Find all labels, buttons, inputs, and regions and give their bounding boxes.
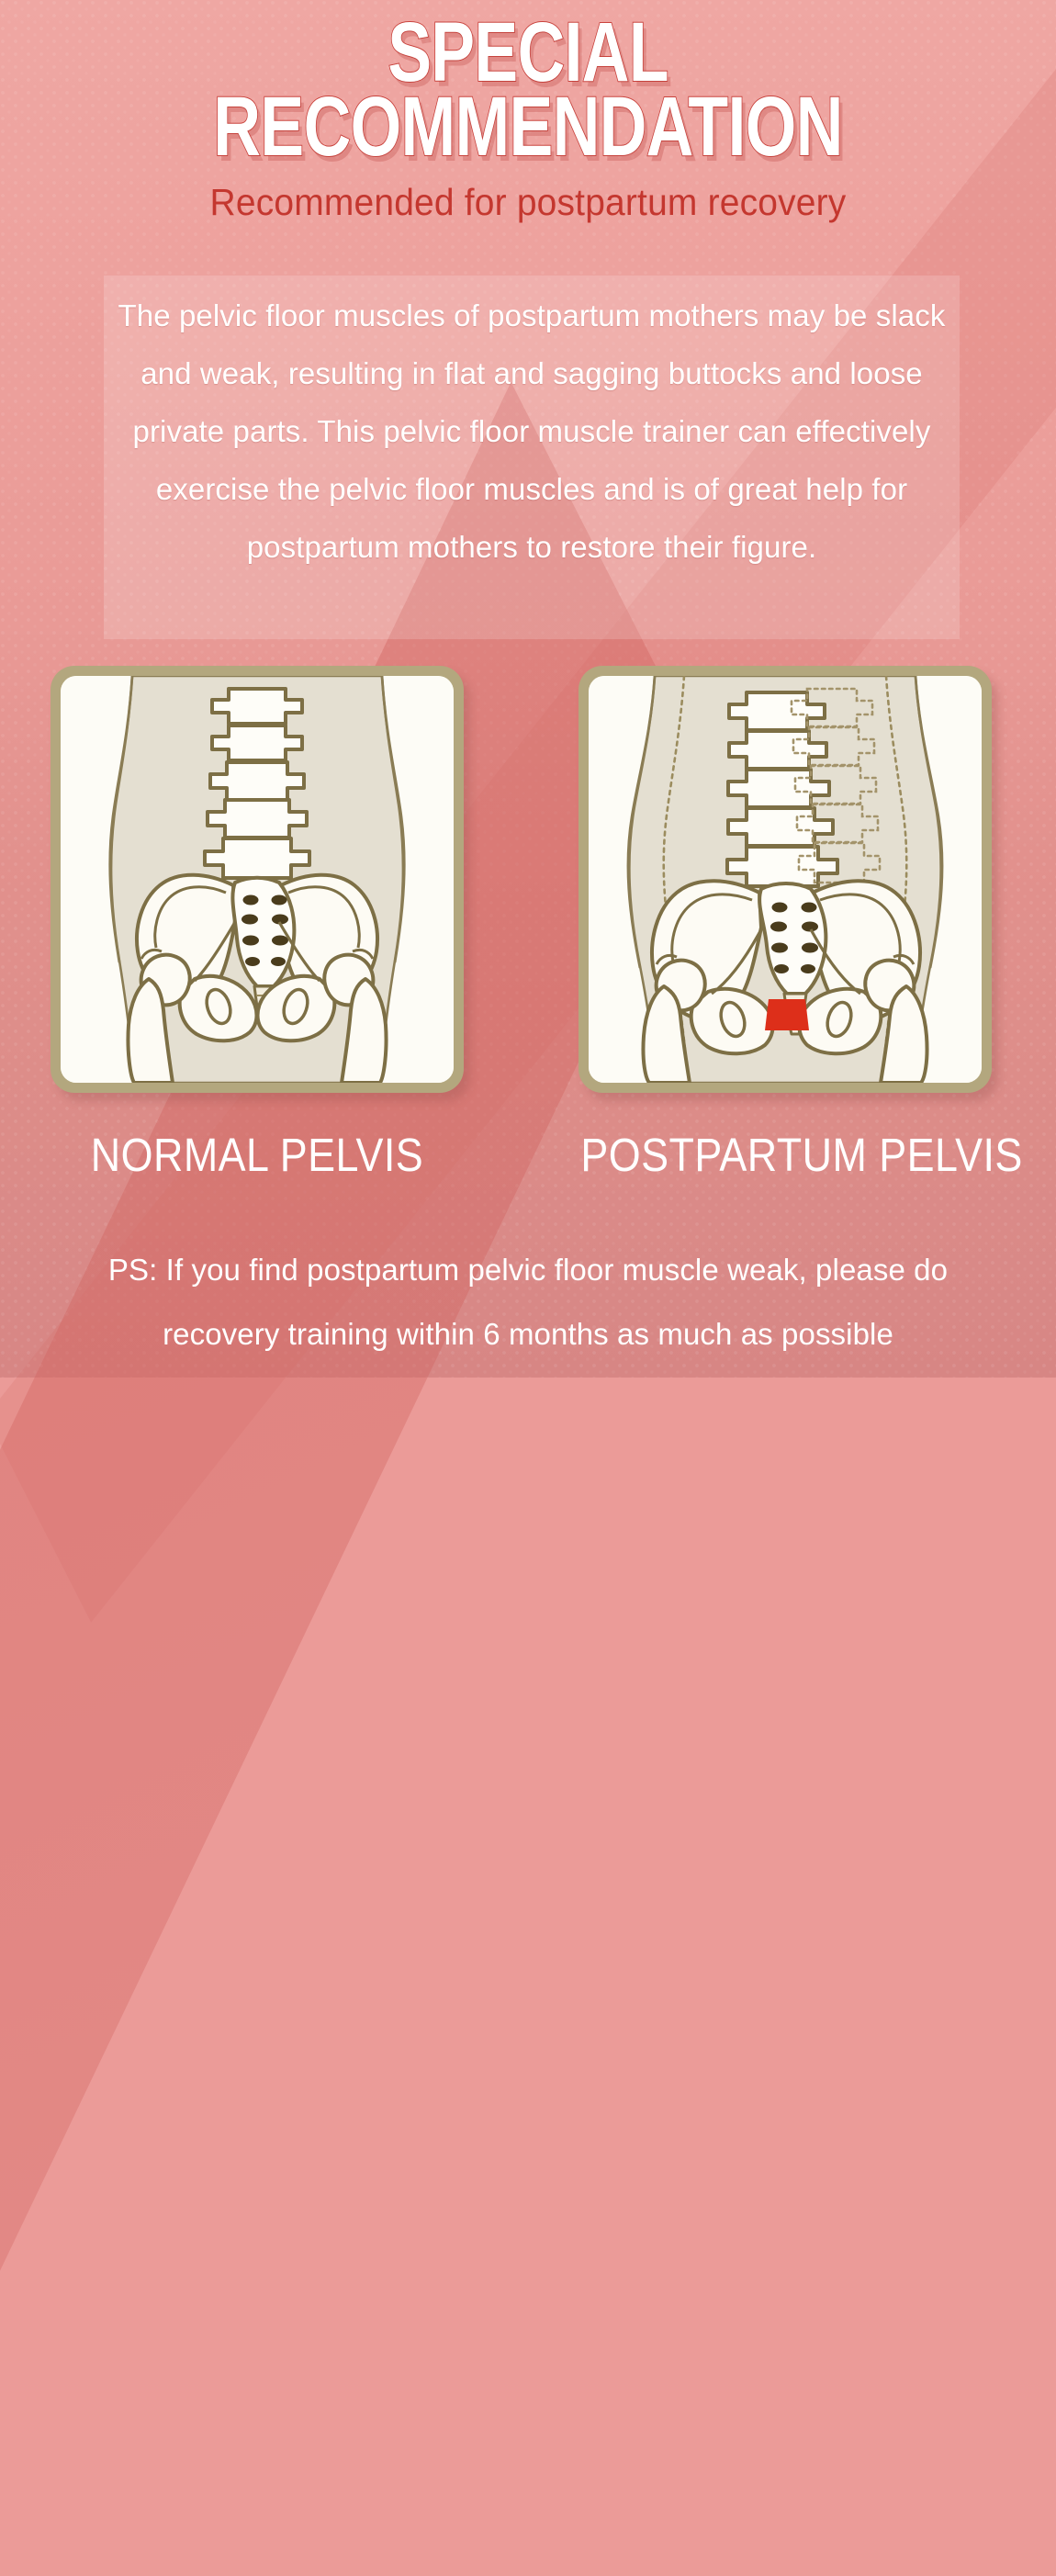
poster-header: SPECIAL RECOMMENDATION Recommended for p… [0, 0, 1056, 224]
poster-stage: SPECIAL RECOMMENDATION Recommended for p… [0, 0, 1056, 1378]
pelvis-postpartum-icon [589, 676, 982, 1083]
pelvis-normal-icon [61, 676, 454, 1083]
figure-card-postpartum-pelvis [579, 666, 992, 1093]
ps-note: PS: If you find postpartum pelvic floor … [64, 1238, 992, 1367]
body-paragraph: The pelvic floor muscles of postpartum m… [118, 287, 946, 576]
figure-row [0, 666, 1056, 1097]
figure-captions: NORMAL PELVIS POSTPARTUM PELVIS [0, 1128, 1056, 1192]
pubic-symphysis-highlight [765, 999, 809, 1030]
caption-normal-pelvis: NORMAL PELVIS [72, 1128, 444, 1182]
figure-card-normal-pelvis [51, 666, 464, 1093]
poster-subtitle: Recommended for postpartum recovery [27, 181, 1030, 224]
caption-postpartum-pelvis: POSTPARTUM PELVIS [580, 1128, 1017, 1182]
title-line-2: RECOMMENDATION [117, 87, 940, 167]
